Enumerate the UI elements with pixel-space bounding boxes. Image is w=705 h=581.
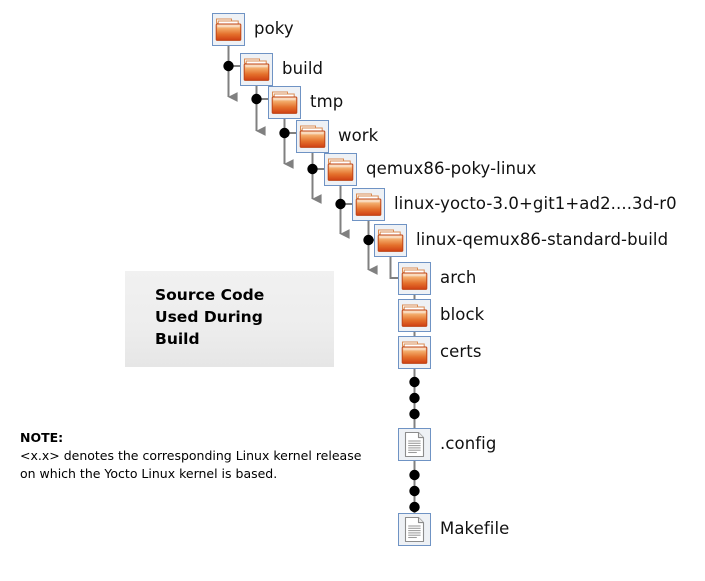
tree-node-qemux86[interactable]: qemux86-poky-linux (324, 153, 536, 186)
folder-icon[interactable] (374, 224, 407, 257)
tree-node-label: certs (440, 344, 482, 361)
tree-node-label: block (440, 307, 484, 324)
tree-node-linuxyocto[interactable]: linux-yocto-3.0+git1+ad2....3d-r0 (352, 188, 677, 221)
folder-icon[interactable] (212, 13, 245, 46)
folder-icon-glyph (401, 339, 428, 366)
callout-line-2: Used During (155, 306, 264, 328)
tree-node-arch[interactable]: arch (398, 262, 476, 295)
folder-icon[interactable] (296, 120, 329, 153)
note-block: NOTE: <x.x> denotes the corresponding Li… (20, 430, 380, 483)
tree-node-standard[interactable]: linux-qemux86-standard-build (374, 224, 668, 257)
folder-icon-glyph (299, 123, 326, 150)
folder-icon-glyph (355, 191, 382, 218)
ellipsis-dots-lower (409, 470, 419, 512)
tree-node-build[interactable]: build (240, 53, 323, 86)
tree-node-label: work (338, 128, 378, 145)
folder-icon[interactable] (398, 299, 431, 332)
note-body: <x.x> denotes the corresponding Linux ke… (20, 447, 380, 483)
tree-node-config[interactable]: .config (398, 428, 496, 461)
tree-node-tmp[interactable]: tmp (268, 86, 343, 119)
callout-line-1: Source Code (155, 284, 264, 306)
connector-lines (0, 0, 705, 581)
folder-icon-glyph (271, 89, 298, 116)
file-icon[interactable] (398, 428, 431, 461)
tree-node-block[interactable]: block (398, 299, 484, 332)
tree-node-label: qemux86-poky-linux (366, 161, 536, 178)
folder-icon-glyph (401, 265, 428, 292)
folder-icon[interactable] (398, 336, 431, 369)
tree-node-makefile[interactable]: Makefile (398, 513, 509, 546)
ellipsis-dots-upper (409, 377, 419, 419)
folder-icon-glyph (243, 56, 270, 83)
folder-icon[interactable] (398, 262, 431, 295)
tree-node-label: linux-qemux86-standard-build (416, 232, 668, 249)
tree-node-label: .config (440, 436, 496, 453)
tree-node-certs[interactable]: certs (398, 336, 482, 369)
tree-node-label: linux-yocto-3.0+git1+ad2....3d-r0 (394, 196, 677, 213)
folder-icon[interactable] (268, 86, 301, 119)
tree-node-label: arch (440, 270, 476, 287)
source-code-callout: Source Code Used During Build (125, 271, 334, 367)
folder-icon-glyph (215, 16, 242, 43)
tree-node-work[interactable]: work (296, 120, 378, 153)
folder-icon-glyph (377, 227, 404, 254)
tree-node-label: Makefile (440, 521, 509, 538)
folder-icon[interactable] (240, 53, 273, 86)
note-title: NOTE: (20, 430, 380, 445)
tree-node-label: tmp (310, 94, 343, 111)
tree-node-poky[interactable]: poky (212, 13, 294, 46)
callout-text: Source Code Used During Build (155, 284, 264, 350)
folder-icon-glyph (327, 156, 354, 183)
callout-line-3: Build (155, 328, 264, 350)
tree-node-label: poky (254, 21, 294, 38)
file-icon-glyph (401, 516, 428, 543)
folder-icon-glyph (401, 302, 428, 329)
folder-icon[interactable] (352, 188, 385, 221)
file-icon[interactable] (398, 513, 431, 546)
diagram-canvas: Source Code Used During Build NOTE: <x.x… (0, 0, 705, 581)
tree-node-label: build (282, 61, 323, 78)
folder-icon[interactable] (324, 153, 357, 186)
file-icon-glyph (401, 431, 428, 458)
